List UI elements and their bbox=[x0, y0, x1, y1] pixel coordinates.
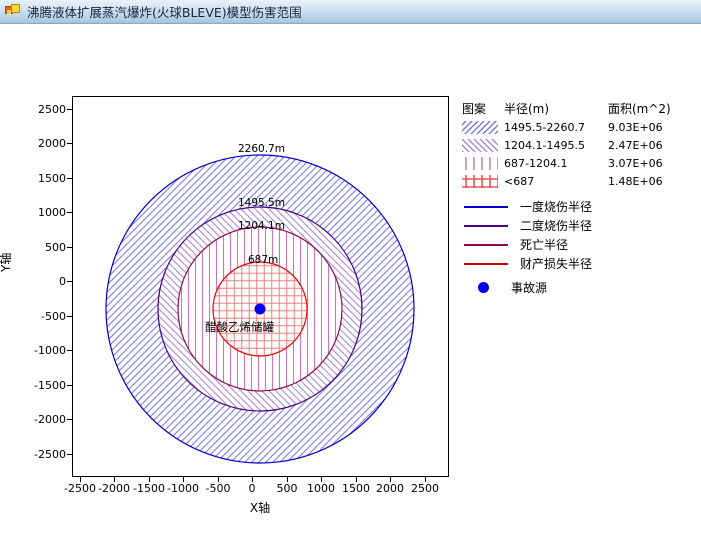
legend-radius-687: <687 bbox=[504, 175, 608, 188]
app-squares-icon bbox=[5, 4, 21, 19]
legend-radius-2260: 1495.5-2260.7 bbox=[504, 121, 608, 134]
legend-radius-1495: 1204.1-1495.5 bbox=[504, 139, 608, 152]
ytick-n2500: -2500 bbox=[0, 448, 66, 461]
legend-row-687: <687 1.48E+06 bbox=[462, 172, 694, 190]
ytick-2000: 2000 bbox=[0, 137, 66, 150]
legend-area-2260: 9.03E+06 bbox=[608, 121, 688, 134]
radius-label-1204: 1204.1m bbox=[238, 220, 285, 232]
line-swatch-first-degree-icon bbox=[464, 206, 508, 208]
legend-radius-1204: 687-1204.1 bbox=[504, 157, 608, 170]
legend-area-1204: 3.07E+06 bbox=[608, 157, 688, 170]
legend-header-pattern: 图案 bbox=[462, 100, 504, 117]
radius-label-687: 687m bbox=[248, 254, 278, 266]
ytick-n2000: -2000 bbox=[0, 413, 66, 426]
legend-label-death: 死亡半径 bbox=[520, 236, 568, 253]
source-marker bbox=[255, 304, 266, 315]
line-swatch-second-degree-icon bbox=[464, 225, 508, 227]
ytick-n1000: -1000 bbox=[0, 344, 66, 357]
line-swatch-death-icon bbox=[464, 244, 508, 246]
source-point-label: 醋酸乙烯储罐 bbox=[205, 319, 274, 335]
legend-label-source: 事故源 bbox=[511, 279, 547, 296]
y-axis-label: Y轴 bbox=[0, 253, 14, 272]
legend: 图案 半径(m) 面积(m^2) 1495.5-2260.7 9.03E+06 bbox=[462, 100, 694, 299]
legend-row-source: 事故源 bbox=[462, 275, 694, 299]
swatch-back-diagonal-icon bbox=[462, 139, 498, 152]
ytick-2500: 2500 bbox=[0, 103, 66, 116]
legend-label-second-degree: 二度烧伤半径 bbox=[520, 217, 592, 234]
legend-area-687: 1.48E+06 bbox=[608, 175, 688, 188]
x-axis-label: X轴 bbox=[200, 499, 320, 516]
legend-line-death: 死亡半径 bbox=[462, 235, 694, 254]
legend-row-1204: 687-1204.1 3.07E+06 bbox=[462, 154, 694, 172]
legend-line-second-degree: 二度烧伤半径 bbox=[462, 216, 694, 235]
legend-line-first-degree: 一度烧伤半径 bbox=[462, 197, 694, 216]
legend-label-first-degree: 一度烧伤半径 bbox=[520, 198, 592, 215]
legend-header-radius: 半径(m) bbox=[504, 100, 608, 117]
legend-line-property-loss: 财产损失半径 bbox=[462, 254, 694, 273]
legend-row-2260: 1495.5-2260.7 9.03E+06 bbox=[462, 118, 694, 136]
ytick-1500: 1500 bbox=[0, 172, 66, 185]
legend-label-property-loss: 财产损失半径 bbox=[520, 255, 592, 272]
swatch-forward-diagonal-icon bbox=[462, 121, 498, 134]
legend-row-1495: 1204.1-1495.5 2.47E+06 bbox=[462, 136, 694, 154]
ytick-0: 0 bbox=[0, 275, 66, 288]
ytick-n1500: -1500 bbox=[0, 379, 66, 392]
legend-header-row: 图案 半径(m) 面积(m^2) bbox=[462, 100, 694, 118]
window-title: 沸腾液体扩展蒸汽爆炸(火球BLEVE)模型伤害范围 bbox=[27, 2, 302, 21]
legend-area-1495: 2.47E+06 bbox=[608, 139, 688, 152]
ytick-n500: -500 bbox=[0, 310, 66, 323]
xtick-2500: 2500 bbox=[395, 482, 455, 495]
legend-header-area: 面积(m^2) bbox=[608, 100, 688, 117]
figure-canvas: 2260.7m 1495.5m 1204.1m 687m 醋酸乙烯储罐 2500… bbox=[0, 24, 701, 533]
swatch-vertical-icon bbox=[462, 157, 498, 170]
source-dot-icon bbox=[478, 282, 489, 293]
line-swatch-property-loss-icon bbox=[464, 263, 508, 265]
radius-label-1495: 1495.5m bbox=[238, 197, 285, 209]
ytick-1000: 1000 bbox=[0, 206, 66, 219]
swatch-cross-grid-icon bbox=[462, 175, 498, 188]
radius-label-2260: 2260.7m bbox=[238, 143, 285, 155]
window-title-bar: 沸腾液体扩展蒸汽爆炸(火球BLEVE)模型伤害范围 bbox=[0, 0, 701, 24]
